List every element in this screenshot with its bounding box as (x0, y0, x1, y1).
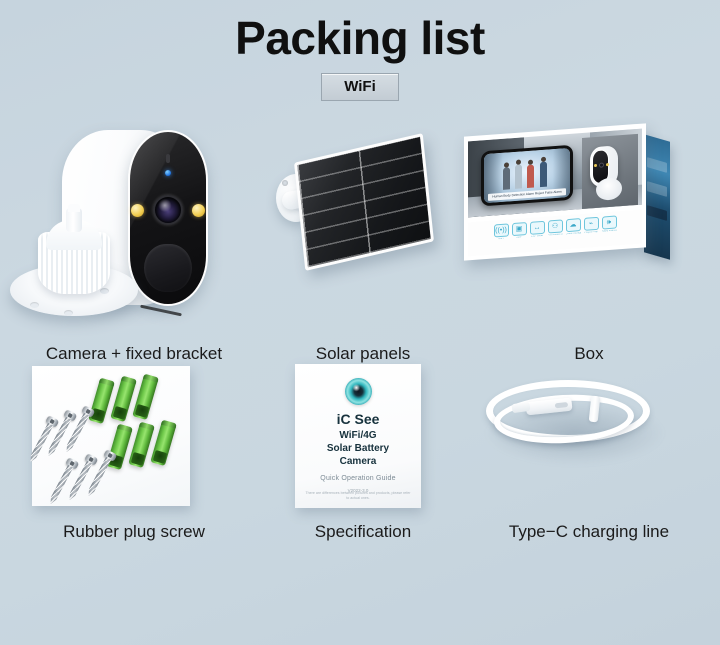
manual-subtitle: WiFi/4G Solar Battery Camera (327, 430, 389, 468)
manual-cover: iC See WiFi/4G Solar Battery Camera Quic… (295, 364, 421, 508)
solar-mount-screw (282, 180, 288, 186)
photo-ir-led-left-icon (594, 164, 597, 167)
cable-illustration (458, 362, 720, 519)
manual-guide-text: Quick Operation Guide (320, 475, 395, 482)
box-lifestyle-photo: Human Body Detection Alarm Reject False … (468, 129, 642, 218)
connectivity-badge: WiFi (321, 73, 399, 101)
feature-label: 2MP (512, 236, 527, 240)
grid-row-2: Rubber plug screw iC See WiFi/4G Solar B… (0, 362, 720, 540)
lens-assembly (130, 190, 206, 230)
solar-panel (294, 133, 434, 271)
person-figure (527, 165, 534, 189)
feature-label: 130° Wide (530, 235, 545, 239)
screws-photo-card (32, 366, 190, 506)
manual-subtitle-line-3: Camera (327, 456, 389, 469)
grid-row-1: Camera + fixed bracket Solar panels (0, 112, 720, 362)
feature-wide-angle: ↔ 130° Wide (530, 221, 545, 239)
badge-container: WiFi (0, 73, 720, 101)
packing-list-grid: Camera + fixed bracket Solar panels (0, 112, 720, 540)
solar-panel-cells (297, 137, 431, 268)
camera-lens-icon (153, 195, 183, 225)
two-way-audio-icon: 🕪 (602, 215, 617, 229)
item-caption-solar: Solar panels (316, 345, 411, 362)
item-caption-specification: Specification (315, 523, 411, 540)
ir-led-right-icon (192, 204, 205, 217)
item-caption-screws: Rubber plug screw (63, 523, 205, 540)
box-front-panel: Human Body Detection Alarm Reject False … (464, 123, 646, 260)
item-caption-box: Box (574, 345, 603, 362)
feature-wifi: ((•)) WiFi (494, 223, 509, 241)
item-box: Human Body Detection Alarm Reject False … (458, 112, 720, 362)
person-figure (540, 162, 547, 188)
feature-label: Cloud Storage (566, 232, 581, 236)
item-specification: iC See WiFi/4G Solar Battery Camera Quic… (268, 362, 458, 540)
person-figure (503, 167, 510, 190)
camera-cord (140, 305, 182, 317)
camera-front-panel (128, 130, 208, 306)
item-caption-cable: Type−C charging line (509, 523, 669, 540)
wifi-icon: ((•)) (494, 223, 509, 237)
bracket-thread-tip (68, 204, 80, 212)
solar-panel-illustration (268, 112, 458, 343)
manual-disclaimer: There are differences between pictures a… (304, 491, 412, 501)
feature-motion-detection: ⚇ PIR Motion Detection (548, 219, 563, 237)
motion-detection-icon: ⚇ (548, 219, 563, 233)
feature-plug-play: ⌁ Plug & Play (584, 217, 599, 235)
bracket-screw-hole (100, 288, 109, 294)
power-plug-icon: ⌁ (584, 217, 599, 231)
status-led-indicator (165, 170, 171, 176)
photo-ir-led-right-icon (606, 163, 609, 166)
item-charging-cable: Type−C charging line (458, 362, 720, 540)
item-rubber-plug-screw: Rubber plug screw (0, 362, 268, 540)
feature-label: PIR Motion Detection (548, 233, 563, 237)
manual-illustration: iC See WiFi/4G Solar Battery Camera Quic… (268, 362, 458, 519)
ir-led-left-icon (131, 204, 144, 217)
feature-label: Plug & Play (584, 231, 599, 235)
item-solar-panels: Solar panels (268, 112, 458, 362)
person-figure (515, 164, 522, 189)
page-title: Packing list (0, 14, 720, 64)
manual-brand: iC See (337, 412, 380, 426)
box-feature-icon-strip: ((•)) WiFi ▣ 2MP ↔ 130° Wide (468, 210, 642, 257)
feature-cloud-storage: ☁ Cloud Storage (566, 218, 581, 236)
camera-illustration (0, 112, 268, 343)
photo-camera-lens-icon (599, 162, 604, 167)
smartphone-mockup: Human Body Detection Alarm Reject False … (481, 145, 573, 207)
item-caption-camera: Camera + fixed bracket (46, 345, 222, 362)
feature-camera: ▣ 2MP (512, 222, 527, 240)
wide-angle-icon: ↔ (530, 221, 545, 235)
bracket-screw-hole (64, 310, 73, 316)
smartphone-screen: Human Body Detection Alarm Reject False … (484, 148, 570, 203)
feature-two-way-audio: 🕪 Audio Intercom (602, 215, 617, 233)
feature-label: WiFi (494, 237, 509, 241)
photo-camera-mount (596, 177, 622, 201)
pir-sensor (144, 244, 192, 292)
page-header: Packing list WiFi (0, 0, 720, 101)
bracket-screw-hole (30, 302, 39, 308)
camera-icon: ▣ (512, 222, 527, 236)
photo-camera-lens-row (594, 162, 609, 168)
box-side-panel (644, 134, 670, 259)
box-camera-photo (582, 134, 638, 214)
item-camera: Camera + fixed bracket (0, 112, 268, 362)
screws-illustration (0, 362, 268, 519)
manual-subtitle-line-2: Solar Battery (327, 443, 389, 456)
ic-see-lens-logo-icon (345, 378, 372, 405)
cloud-storage-icon: ☁ (566, 218, 581, 232)
feature-label: Audio Intercom (602, 229, 617, 233)
box-illustration: Human Body Detection Alarm Reject False … (458, 112, 720, 343)
manual-subtitle-line-1: WiFi/4G (327, 430, 389, 443)
microphone-icon (166, 154, 170, 163)
